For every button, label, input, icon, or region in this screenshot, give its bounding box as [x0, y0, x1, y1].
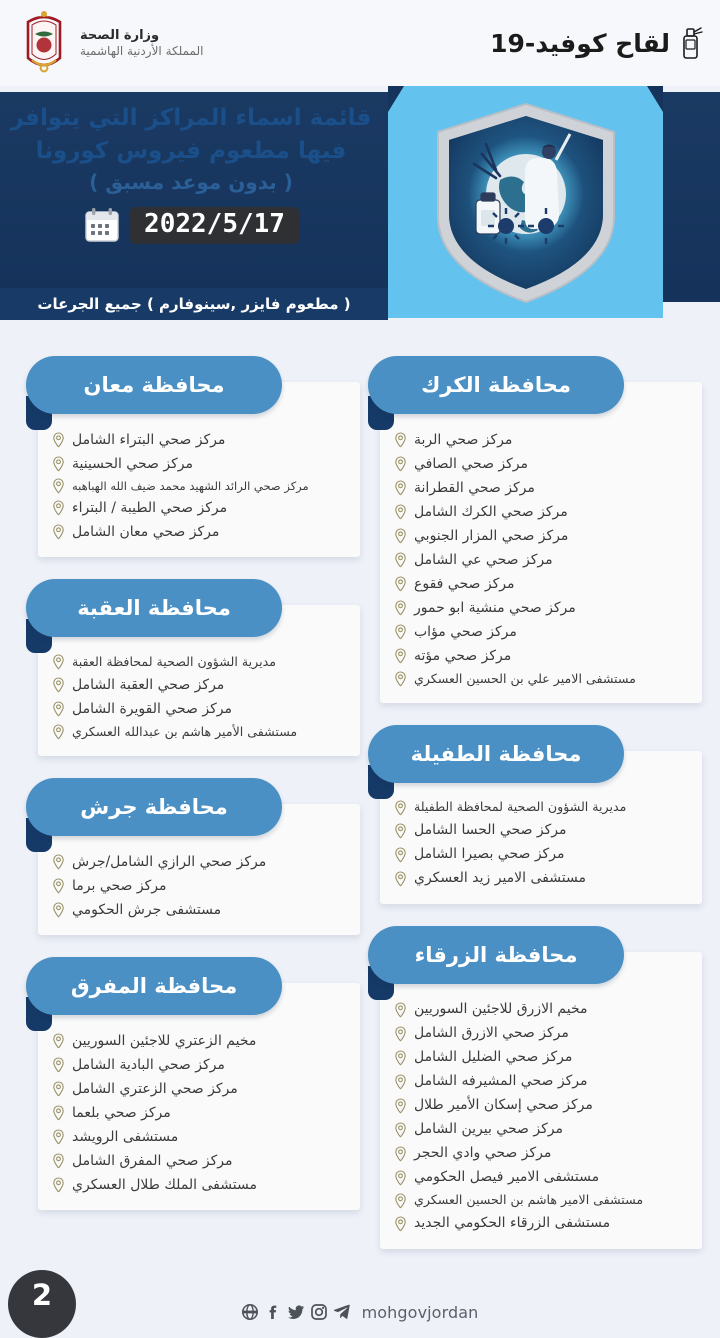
center-list-item: مركز صحي البتراء الشامل	[50, 428, 348, 452]
center-list-item: مستشفى الرويشد	[50, 1125, 348, 1149]
right-column: محافظة الكركمركز صحي الربةمركز صحي الصاف…	[380, 356, 702, 1249]
location-pin-icon	[52, 677, 65, 693]
center-name: مركز صحي القويرة الشامل	[72, 699, 232, 720]
hero-text-block: قائمة اسماء المراكز التي يتوافر فيها مطع…	[10, 102, 372, 244]
center-list-item: مركز صحي المزار الجنوبي	[392, 524, 690, 548]
hero-section: قائمة اسماء المراكز التي يتوافر فيها مطع…	[0, 86, 720, 342]
governorate-title: محافظة جرش	[80, 795, 227, 819]
card-ribbon-wrap: محافظة معان	[26, 356, 282, 414]
location-pin-icon	[394, 528, 407, 544]
governorate-board: محافظة الكركمركز صحي الربةمركز صحي الصاف…	[0, 342, 720, 1249]
center-name: مركز صحي العقبة الشامل	[72, 675, 224, 696]
center-list-item: مركز صحي وادي الحجر	[392, 1142, 690, 1166]
location-pin-icon	[394, 847, 407, 863]
center-list-item: مستشفى الامير فيصل الحكومي	[392, 1166, 690, 1190]
center-name: مستشفى الامير فيصل الحكومي	[414, 1167, 599, 1188]
center-name: مركز صحي الازرق الشامل	[414, 1023, 569, 1044]
center-name: مستشفى الملك طلال العسكري	[72, 1175, 257, 1196]
ministry-name: وزارة الصحة	[80, 27, 203, 44]
center-list-item: مركز صحي الحسا الشامل	[392, 819, 690, 843]
center-list-item: مركز صحي مؤته	[392, 644, 690, 668]
governorate-title: محافظة الزرقاء	[415, 943, 578, 967]
location-pin-icon	[394, 1050, 407, 1066]
center-name: مركز صحي الرازي الشامل/جرش	[72, 852, 266, 873]
center-name: مستشفى الزرقاء الحكومي الجديد	[414, 1213, 610, 1234]
location-pin-icon	[52, 878, 65, 894]
location-pin-icon	[52, 1081, 65, 1097]
center-list-item: مركز صحي برما	[50, 874, 348, 898]
location-pin-icon	[52, 432, 65, 448]
center-list-item: مديرية الشؤون الصحية لمحافظة الطفيلة	[392, 797, 690, 819]
center-name: مركز صحي البتراء الشامل	[72, 430, 225, 451]
center-list-item: مركز صحي إسكان الأمير طلال	[392, 1094, 690, 1118]
center-name: مستشفى الامير زيد العسكري	[414, 868, 586, 889]
center-list-item: مركز صحي البادية الشامل	[50, 1053, 348, 1077]
center-name: مركز صحي الطيبة / البتراء	[72, 498, 227, 519]
location-pin-icon	[52, 500, 65, 516]
center-name: مركز صحي بيرين الشامل	[414, 1119, 563, 1140]
center-name: مركز صحي فقوع	[414, 574, 514, 595]
center-name: مخيم الزعتري للاجئين السوريين	[72, 1031, 256, 1052]
location-pin-icon	[394, 1216, 407, 1232]
hero-title-line2: فيها مطعوم فيروس كورونا	[10, 135, 372, 168]
location-pin-icon	[52, 1129, 65, 1145]
governorate-title: محافظة الكرك	[421, 373, 571, 397]
governorate-title-ribbon: محافظة الطفيلة	[368, 725, 624, 783]
center-list-item: مركز صحي بلعما	[50, 1101, 348, 1125]
center-list-item: مركز صحي عي الشامل	[392, 548, 690, 572]
header-title: لقاح كوفيد-19	[490, 29, 670, 58]
center-list-item: مركز صحي الصافي	[392, 452, 690, 476]
center-list-item: مركز صحي الحسينية	[50, 452, 348, 476]
center-list-item: مركز صحي المشيرفه الشامل	[392, 1070, 690, 1094]
header-brand-left: لقاح كوفيد-19	[490, 26, 706, 60]
location-pin-icon	[394, 1122, 407, 1138]
location-pin-icon	[52, 524, 65, 540]
center-list-item: مركز صحي الرائد الشهيد محمد ضيف الله اله…	[50, 476, 348, 496]
center-name: مركز صحي الحسا الشامل	[414, 820, 567, 841]
governorate-title-ribbon: محافظة معان	[26, 356, 282, 414]
location-pin-icon	[394, 1098, 407, 1114]
center-name: مركز صحي المفرق الشامل	[72, 1151, 233, 1172]
center-list-item: مستشفى الامير هاشم بن الحسين العسكري	[392, 1190, 690, 1212]
center-list-item: مستشفى الملك طلال العسكري	[50, 1173, 348, 1197]
location-pin-icon	[394, 456, 407, 472]
governorate-title-ribbon: محافظة الزرقاء	[368, 926, 624, 984]
globe-icon[interactable]	[242, 1304, 258, 1320]
hero-date-badge: 2022/5/17	[130, 207, 299, 244]
center-list: مركز صحي الربةمركز صحي الصافيمركز صحي ال…	[392, 428, 690, 690]
center-list: مخيم الزعتري للاجئين السوريينمركز صحي ال…	[50, 1029, 348, 1197]
twitter-icon[interactable]	[288, 1304, 304, 1320]
kingdom-name: المملكة الأردنية الهاشمية	[80, 44, 203, 60]
hero-title-line1: قائمة اسماء المراكز التي يتوافر	[10, 102, 372, 135]
center-list-item: مركز صحي بصيرا الشامل	[392, 843, 690, 867]
hero-subtitle: ( بدون موعد مسبق )	[10, 167, 372, 197]
center-list-item: مركز صحي معان الشامل	[50, 520, 348, 544]
governorate-title: محافظة العقبة	[77, 596, 231, 620]
center-list: مخيم الازرق للاجئين السوريينمركز صحي الا…	[392, 998, 690, 1236]
center-list-item: مركز صحي الرازي الشامل/جرش	[50, 850, 348, 874]
center-list-item: مستشفى الزرقاء الحكومي الجديد	[392, 1212, 690, 1236]
center-list-item: مركز صحي الربة	[392, 428, 690, 452]
center-name: مركز صحي القطرانة	[414, 478, 535, 499]
hero-date-row: 2022/5/17	[10, 206, 372, 244]
center-list-item: مركز صحي الضليل الشامل	[392, 1046, 690, 1070]
governorate-title: محافظة المفرق	[71, 974, 237, 998]
governorate-title-ribbon: محافظة المفرق	[26, 957, 282, 1015]
ministry-text: وزارة الصحة المملكة الأردنية الهاشمية	[80, 27, 203, 60]
center-name: مركز صحي منشية ابو حمور	[414, 598, 576, 619]
center-list-item: مستشفى الأمير هاشم بن عبدالله العسكري	[50, 721, 348, 743]
location-pin-icon	[52, 902, 65, 918]
left-column: محافظة معانمركز صحي البتراء الشاملمركز ص…	[38, 356, 360, 1210]
center-list-item: مركز صحي فقوع	[392, 572, 690, 596]
center-name: مركز صحي المزار الجنوبي	[414, 526, 568, 547]
location-pin-icon	[394, 1002, 407, 1018]
governorate-title-ribbon: محافظة العقبة	[26, 579, 282, 637]
center-name: مركز صحي الصافي	[414, 454, 528, 475]
location-pin-icon	[394, 1146, 407, 1162]
center-name: مستشفى الرويشد	[72, 1127, 178, 1148]
center-list: مديرية الشؤون الصحية لمحافظة الطفيلةمركز…	[392, 797, 690, 891]
location-pin-icon	[52, 654, 65, 670]
location-pin-icon	[394, 871, 407, 887]
location-pin-icon	[394, 432, 407, 448]
governorate-card-zarqa: محافظة الزرقاءمخيم الازرق للاجئين السوري…	[380, 952, 702, 1249]
center-list-item: مركز صحي مؤاب	[392, 620, 690, 644]
location-pin-icon	[52, 854, 65, 870]
location-pin-icon	[52, 701, 65, 717]
center-name: مستشفى الأمير هاشم بن عبدالله العسكري	[72, 723, 297, 742]
card-ribbon-wrap: محافظة الزرقاء	[368, 926, 624, 984]
center-list-item: مستشفى الامير علي بن الحسين العسكري	[392, 668, 690, 690]
location-pin-icon	[52, 1105, 65, 1121]
location-pin-icon	[394, 504, 407, 520]
location-pin-icon	[394, 800, 407, 816]
center-name: مركز صحي مؤاب	[414, 622, 517, 643]
center-list-item: مركز صحي العقبة الشامل	[50, 673, 348, 697]
hero-vaccine-strip: ( مطعوم فايزر ,سينوفارم ) جميع الجرعات	[0, 288, 388, 320]
center-name: مستشفى جرش الحكومي	[72, 900, 221, 921]
governorate-card-mafraq: محافظة المفرقمخيم الزعتري للاجئين السوري…	[38, 983, 360, 1210]
center-list-item: مركز صحي الكرك الشامل	[392, 500, 690, 524]
center-name: مركز صحي برما	[72, 876, 167, 897]
instagram-icon[interactable]	[311, 1304, 327, 1320]
center-name: مركز صحي بلعما	[72, 1103, 171, 1124]
location-pin-icon	[394, 648, 407, 664]
card-ribbon-wrap: محافظة المفرق	[26, 957, 282, 1015]
center-list-item: مركز صحي القطرانة	[392, 476, 690, 500]
vaccine-spray-icon	[676, 26, 706, 60]
location-pin-icon	[394, 1170, 407, 1186]
governorate-card-karak: محافظة الكركمركز صحي الربةمركز صحي الصاف…	[380, 382, 702, 703]
center-name: مركز صحي معان الشامل	[72, 522, 219, 543]
page-header: لقاح كوفيد-19 وزارة الصحة المملكة الأردن…	[0, 0, 720, 86]
location-pin-icon	[52, 478, 65, 494]
page-number-badge: 2	[8, 1270, 76, 1338]
governorate-title-ribbon: محافظة جرش	[26, 778, 282, 836]
governorate-card-tafilah: محافظة الطفيلةمديرية الشؤون الصحية لمحاف…	[380, 751, 702, 904]
center-list-item: مركز صحي المفرق الشامل	[50, 1149, 348, 1173]
location-pin-icon	[52, 1153, 65, 1169]
location-pin-icon	[394, 552, 407, 568]
facebook-icon[interactable]	[265, 1304, 281, 1320]
center-name: مديرية الشؤون الصحية لمحافظة الطفيلة	[414, 798, 626, 817]
card-ribbon-wrap: محافظة الكرك	[368, 356, 624, 414]
center-name: مركز صحي الزعتري الشامل	[72, 1079, 238, 1100]
telegram-icon[interactable]	[334, 1304, 350, 1320]
social-handle: mohgovjordan	[362, 1303, 479, 1322]
location-pin-icon	[52, 1057, 65, 1073]
location-pin-icon	[52, 1033, 65, 1049]
calendar-icon	[83, 206, 121, 244]
center-list-item: مخيم الازرق للاجئين السوريين	[392, 998, 690, 1022]
location-pin-icon	[394, 576, 407, 592]
location-pin-icon	[394, 1074, 407, 1090]
center-name: مركز صحي الضليل الشامل	[414, 1047, 572, 1068]
center-list-item: مركز صحي منشية ابو حمور	[392, 596, 690, 620]
center-list-item: مركز صحي الطيبة / البتراء	[50, 496, 348, 520]
center-list: مديرية الشؤون الصحية لمحافظة العقبةمركز …	[50, 651, 348, 743]
center-list-item: مركز صحي الزعتري الشامل	[50, 1077, 348, 1101]
center-name: مركز صحي إسكان الأمير طلال	[414, 1095, 593, 1116]
location-pin-icon	[394, 600, 407, 616]
center-list-item: مستشفى جرش الحكومي	[50, 898, 348, 922]
center-list: مركز صحي البتراء الشاملمركز صحي الحسينية…	[50, 428, 348, 544]
governorate-card-maan: محافظة معانمركز صحي البتراء الشاملمركز ص…	[38, 382, 360, 557]
center-list-item: مستشفى الامير زيد العسكري	[392, 867, 690, 891]
location-pin-icon	[52, 1177, 65, 1193]
center-name: مركز صحي مؤته	[414, 646, 511, 667]
center-name: مركز صحي الحسينية	[72, 454, 193, 475]
location-pin-icon	[394, 480, 407, 496]
center-list: مركز صحي الرازي الشامل/جرشمركز صحي برمام…	[50, 850, 348, 922]
governorate-title: محافظة الطفيلة	[411, 742, 582, 766]
hero-shield-panel	[388, 86, 663, 318]
center-list-item: مديرية الشؤون الصحية لمحافظة العقبة	[50, 651, 348, 673]
center-list-item: مركز صحي الازرق الشامل	[392, 1022, 690, 1046]
center-name: مركز صحي الرائد الشهيد محمد ضيف الله اله…	[72, 478, 309, 495]
governorate-card-aqaba: محافظة العقبةمديرية الشؤون الصحية لمحافظ…	[38, 605, 360, 756]
location-pin-icon	[52, 456, 65, 472]
location-pin-icon	[394, 624, 407, 640]
card-ribbon-wrap: محافظة العقبة	[26, 579, 282, 637]
jordan-coat-of-arms-icon	[16, 8, 72, 78]
center-list-item: مركز صحي بيرين الشامل	[392, 1118, 690, 1142]
center-name: مركز صحي عي الشامل	[414, 550, 553, 571]
governorate-card-jerash: محافظة جرشمركز صحي الرازي الشامل/جرشمركز…	[38, 804, 360, 935]
center-name: مستشفى الامير هاشم بن الحسين العسكري	[414, 1191, 643, 1210]
center-name: مركز صحي بصيرا الشامل	[414, 844, 564, 865]
center-list-item: مخيم الزعتري للاجئين السوريين	[50, 1029, 348, 1053]
center-name: مركز صحي وادي الحجر	[414, 1143, 551, 1164]
location-pin-icon	[394, 671, 407, 687]
location-pin-icon	[394, 1026, 407, 1042]
location-pin-icon	[394, 823, 407, 839]
center-name: مركز صحي الربة	[414, 430, 512, 451]
center-name: مستشفى الامير علي بن الحسين العسكري	[414, 670, 636, 689]
page-footer: mohgovjordan	[0, 1286, 720, 1338]
location-pin-icon	[394, 1193, 407, 1209]
card-ribbon-wrap: محافظة الطفيلة	[368, 725, 624, 783]
hero-strip-text: ( مطعوم فايزر ,سينوفارم ) جميع الجرعات	[37, 295, 350, 313]
center-name: مركز صحي المشيرفه الشامل	[414, 1071, 587, 1092]
card-ribbon-wrap: محافظة جرش	[26, 778, 282, 836]
center-name: مركز صحي الكرك الشامل	[414, 502, 568, 523]
center-name: مخيم الازرق للاجئين السوريين	[414, 999, 587, 1020]
governorate-title-ribbon: محافظة الكرك	[368, 356, 624, 414]
location-pin-icon	[52, 724, 65, 740]
center-name: مديرية الشؤون الصحية لمحافظة العقبة	[72, 653, 276, 672]
governorate-title: محافظة معان	[84, 373, 225, 397]
center-name: مركز صحي البادية الشامل	[72, 1055, 225, 1076]
center-list-item: مركز صحي القويرة الشامل	[50, 697, 348, 721]
header-brand-right: وزارة الصحة المملكة الأردنية الهاشمية	[16, 8, 203, 78]
